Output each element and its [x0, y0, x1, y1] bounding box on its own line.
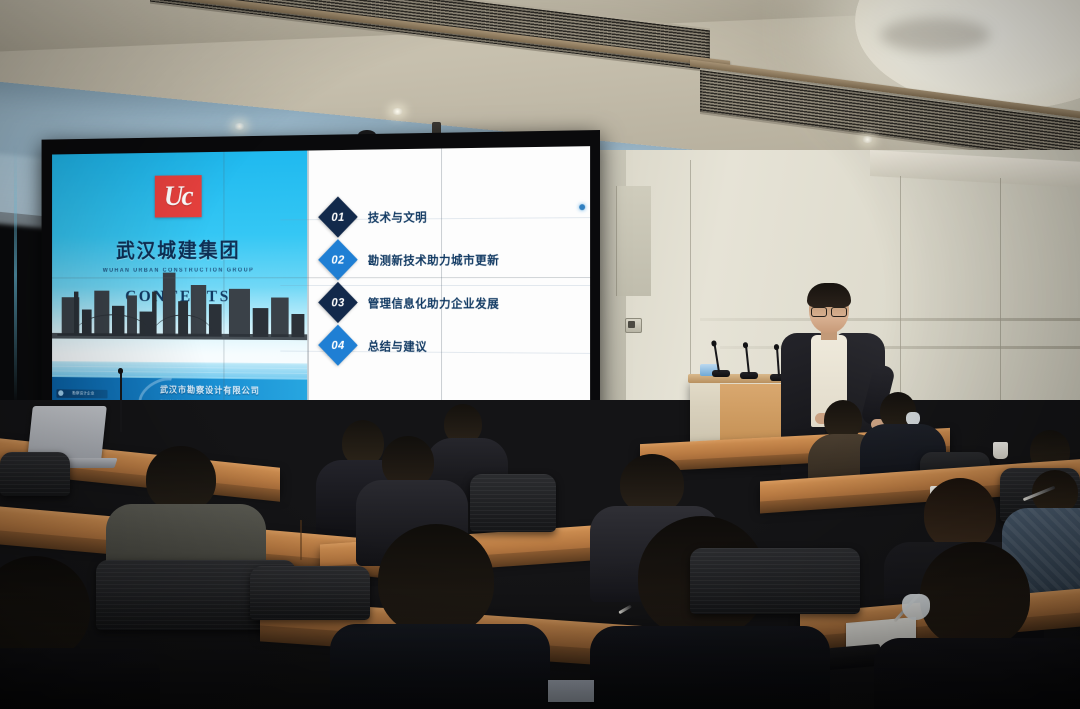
torso — [330, 624, 550, 709]
toc-number: 01 — [331, 210, 344, 224]
glasses-icon — [811, 307, 847, 315]
video-wall-display: Uc 武汉城建集团 WUHAN URBAN CONSTRUCTION GROUP… — [52, 146, 590, 418]
presenter-hair — [807, 283, 851, 307]
toc-item[interactable]: 04 总结与建议 — [324, 328, 579, 364]
wall-recess-panel — [616, 186, 651, 296]
conference-room-photo: Uc 武汉城建集团 WUHAN URBAN CONSTRUCTION GROUP… — [0, 0, 1080, 709]
head — [620, 454, 684, 514]
ceiling-shadow — [880, 18, 990, 52]
wall-switch-plate[interactable] — [625, 318, 642, 333]
company-logo: Uc — [154, 176, 201, 218]
toc-label: 总结与建议 — [368, 337, 427, 354]
toc-label: 技术与文明 — [368, 208, 427, 225]
toc-number: 03 — [331, 296, 344, 310]
chip-dot-icon — [58, 391, 63, 397]
face-mask — [902, 594, 930, 620]
bezel-seam — [307, 151, 308, 414]
footer-company-cn: 武汉市勘察设计有限公司 — [160, 383, 260, 397]
screen-indicator-dot — [579, 204, 585, 210]
slide-right-panel: 01 技术与文明 02 勘测新技术助力城市更新 03 — [307, 146, 590, 418]
chair[interactable] — [0, 452, 70, 496]
wall-panel-seam — [690, 160, 691, 380]
screen-edge-glow — [14, 146, 17, 404]
toc-number: 04 — [331, 339, 344, 353]
desk-microphone — [120, 372, 122, 432]
presentation-slide: Uc 武汉城建集团 WUHAN URBAN CONSTRUCTION GROUP… — [52, 146, 590, 418]
head — [920, 542, 1030, 648]
video-wall[interactable]: Uc 武汉城建集团 WUHAN URBAN CONSTRUCTION GROUP… — [42, 130, 600, 440]
footer-chip-text: 勘察设计企业 — [72, 391, 94, 397]
head — [378, 524, 494, 636]
paper-cup[interactable] — [993, 442, 1008, 459]
toc-badge-01: 01 — [318, 197, 358, 238]
toc-item[interactable]: 02 勘测新技术助力城市更新 — [324, 242, 579, 277]
chair[interactable] — [250, 566, 370, 620]
city-skyline-artwork — [52, 274, 307, 363]
torso — [874, 638, 1080, 709]
logo-mark-text: Uc — [164, 182, 192, 211]
microphone-base — [712, 370, 730, 377]
downlight-icon — [234, 123, 245, 130]
company-name-en: WUHAN URBAN CONSTRUCTION GROUP — [103, 268, 254, 274]
smartphone[interactable] — [828, 644, 880, 671]
torso — [590, 626, 830, 709]
downlight-icon — [862, 136, 873, 143]
toc-badge-04: 04 — [318, 325, 358, 366]
toc-item[interactable]: 01 技术与文明 — [324, 198, 579, 234]
footer-chip: 勘察设计企业 — [56, 389, 107, 398]
toc-label: 勘测新技术助力城市更新 — [368, 251, 499, 268]
torso — [0, 648, 160, 709]
bezel-seam — [223, 152, 224, 413]
head — [924, 478, 996, 550]
head — [146, 446, 216, 512]
table-of-contents: 01 技术与文明 02 勘测新技术助力城市更新 03 — [324, 198, 579, 374]
chair[interactable] — [470, 474, 556, 532]
chair[interactable] — [690, 548, 860, 614]
desk-seam — [300, 520, 302, 560]
toc-number: 02 — [331, 253, 344, 267]
toc-label: 管理信息化助力企业发展 — [368, 294, 499, 311]
company-name-cn: 武汉城建集团 — [116, 235, 240, 264]
downlight-icon — [392, 108, 403, 115]
slide-left-panel: Uc 武汉城建集团 WUHAN URBAN CONSTRUCTION GROUP… — [52, 151, 307, 414]
toc-badge-02: 02 — [318, 239, 358, 280]
toc-item[interactable]: 03 管理信息化助力企业发展 — [324, 286, 579, 321]
toc-badge-03: 03 — [318, 282, 358, 323]
booklet[interactable] — [548, 680, 594, 702]
